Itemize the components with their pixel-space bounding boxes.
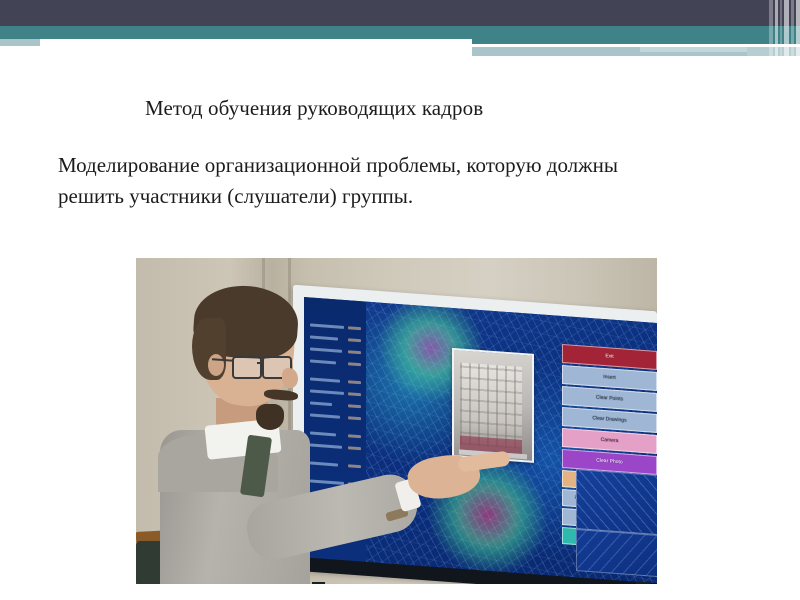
presenter-goatee	[256, 404, 284, 430]
presenter-ear	[208, 354, 224, 376]
presenter-glasses-bridge	[257, 362, 264, 364]
header-band-dark	[0, 0, 800, 26]
header-vertical-stripe-1	[769, 0, 773, 58]
slide-title: Метод обучения руководящих кадров	[145, 94, 705, 122]
header-vertical-stripe-5	[791, 0, 794, 58]
header-band-teal-right	[472, 26, 800, 45]
header-vertical-stripe-6	[796, 0, 800, 58]
header-vertical-stripe-3	[780, 0, 782, 58]
presenter-nose	[282, 368, 298, 388]
slide-body-text: Моделирование организационной проблемы, …	[58, 150, 658, 212]
photo-bottom-edge	[136, 584, 657, 600]
header-band-light-left	[0, 39, 40, 46]
presenter-glasses-lens-left	[232, 356, 262, 379]
slide-header-decoration	[0, 0, 800, 70]
header-vertical-stripe-2	[775, 0, 778, 58]
presenter-pointing-finger	[457, 450, 511, 472]
presentation-slide: Метод обучения руководящих кадров Модели…	[0, 0, 800, 600]
header-vertical-stripe-4	[784, 0, 789, 58]
slide-photo: Exit Insert Clear Points Clear Drawings …	[136, 258, 657, 600]
presenter-figure	[136, 258, 657, 600]
